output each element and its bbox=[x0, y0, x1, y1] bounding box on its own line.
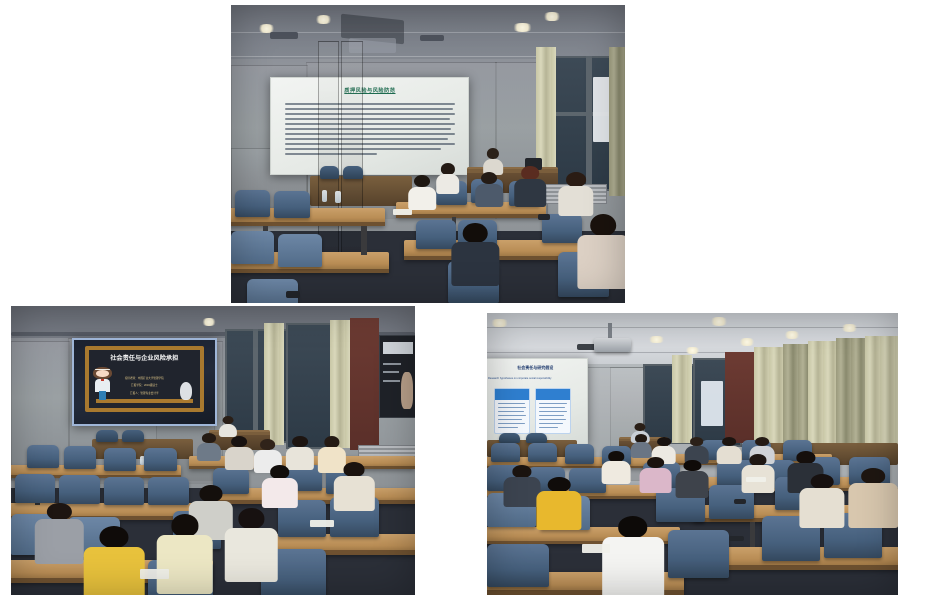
auditorium-seat bbox=[27, 445, 59, 468]
slide-title: 社会责任与研究假设 bbox=[487, 365, 587, 371]
student bbox=[717, 437, 742, 462]
notebook bbox=[746, 477, 767, 483]
water-bottle bbox=[322, 190, 328, 202]
ceiling-light-icon bbox=[738, 338, 756, 345]
student bbox=[558, 172, 593, 214]
cartoon-girl-graphic bbox=[93, 367, 111, 379]
student bbox=[408, 175, 436, 208]
front-chair bbox=[343, 166, 363, 179]
auditorium-seat bbox=[274, 191, 309, 218]
slide-box bbox=[494, 388, 530, 434]
student bbox=[225, 508, 278, 577]
wall-poster bbox=[379, 335, 415, 418]
slide-title: 社会责任与企业风险承担 bbox=[100, 355, 189, 363]
window-poster bbox=[701, 381, 724, 426]
auditorium-seat bbox=[59, 475, 99, 504]
slide-body bbox=[285, 103, 454, 158]
slide-subtitle: Research hypotheses on corporate social … bbox=[488, 377, 583, 380]
slide-title: 质押风险与风险防范 bbox=[283, 87, 456, 94]
student bbox=[849, 468, 898, 524]
front-chair bbox=[96, 430, 118, 442]
student bbox=[742, 454, 775, 491]
curtain bbox=[754, 347, 783, 449]
student bbox=[35, 503, 83, 561]
notebook bbox=[393, 209, 413, 215]
projection-screen: 质押风险与风险防范 bbox=[270, 77, 469, 176]
student bbox=[452, 223, 499, 283]
notebook bbox=[310, 520, 334, 527]
front-chair bbox=[499, 433, 520, 443]
photo-top: 质押风险与风险防范 bbox=[231, 5, 625, 303]
ceiling-light-icon bbox=[647, 336, 665, 343]
projector-icon bbox=[594, 338, 631, 352]
student bbox=[84, 526, 145, 595]
front-chair bbox=[526, 433, 547, 443]
auditorium-seat bbox=[491, 443, 520, 463]
curtain bbox=[330, 320, 352, 447]
cartoon-ghost-graphic bbox=[180, 382, 193, 400]
auditorium-seat bbox=[416, 220, 455, 250]
mobile-phone bbox=[734, 499, 746, 504]
curtain bbox=[264, 323, 284, 444]
student bbox=[286, 436, 314, 468]
student bbox=[436, 163, 460, 193]
auditorium-seat bbox=[565, 444, 594, 464]
curtain bbox=[865, 336, 898, 449]
student bbox=[536, 477, 581, 528]
curtain bbox=[836, 338, 865, 448]
projector-mount bbox=[608, 323, 612, 340]
notebook bbox=[140, 569, 168, 579]
student bbox=[578, 214, 625, 286]
curtain bbox=[808, 341, 837, 448]
student bbox=[602, 516, 664, 595]
front-chair bbox=[122, 430, 144, 442]
photo-bottom-right: 社会责任与研究假设 Research hypotheses on corpora… bbox=[487, 313, 898, 595]
student bbox=[261, 465, 297, 505]
auditorium-seat bbox=[668, 530, 730, 578]
mobile-phone bbox=[729, 536, 743, 542]
student bbox=[475, 172, 503, 205]
student bbox=[639, 457, 672, 491]
auditorium-seat bbox=[104, 448, 136, 471]
auditorium-seat bbox=[104, 477, 144, 506]
student bbox=[676, 460, 709, 497]
projection-screen: 社会责任与研究假设 Research hypotheses on corpora… bbox=[487, 358, 588, 445]
slide-box bbox=[535, 388, 571, 434]
slide-subtitle: 汇报人：管理专业会计学 bbox=[104, 391, 184, 395]
slide-subtitle: 指导老师：中国矿业大学管理学院 bbox=[104, 376, 184, 380]
front-chair bbox=[320, 166, 340, 179]
auditorium-seat bbox=[528, 443, 557, 463]
student bbox=[334, 462, 374, 508]
presenter bbox=[219, 416, 237, 436]
slide-subtitle: 汇报学院：2019级硕士 bbox=[104, 383, 184, 387]
projection-screen: 社会责任与企业风险承担 指导老师：中国矿业大学管理学院 汇报学院：2019级硕士… bbox=[72, 338, 217, 426]
water-bottle bbox=[335, 191, 341, 203]
ceiling-light-icon bbox=[783, 331, 801, 338]
curtain bbox=[672, 355, 693, 442]
ceiling-light-icon bbox=[709, 317, 730, 325]
student bbox=[799, 474, 844, 525]
student bbox=[602, 451, 631, 482]
ceiling-light-icon bbox=[201, 318, 217, 327]
mobile-phone bbox=[286, 291, 300, 298]
student bbox=[197, 433, 221, 459]
auditorium-seat bbox=[235, 190, 270, 217]
auditorium-seat bbox=[487, 544, 549, 586]
notebook bbox=[582, 544, 611, 552]
student bbox=[225, 436, 253, 468]
ceiling-light-icon bbox=[840, 324, 858, 331]
curtain bbox=[783, 344, 808, 448]
presenter bbox=[483, 148, 503, 175]
ceiling-light-icon bbox=[489, 319, 510, 327]
photo-bottom-left: 社会责任与企业风险承担 指导老师：中国矿业大学管理学院 汇报学院：2019级硕士… bbox=[11, 306, 415, 595]
accent-wall bbox=[350, 318, 378, 451]
auditorium-seat bbox=[144, 448, 176, 471]
curtain bbox=[609, 47, 625, 196]
auditorium-seat bbox=[231, 231, 274, 264]
auditorium-seat bbox=[148, 477, 188, 506]
auditorium-seat bbox=[64, 446, 96, 469]
mobile-phone bbox=[538, 214, 550, 220]
photo-collage: 质押风险与风险防范 bbox=[0, 0, 937, 595]
student bbox=[631, 434, 652, 457]
auditorium-seat bbox=[15, 474, 55, 503]
student bbox=[515, 166, 547, 205]
ceiling-light-icon bbox=[684, 347, 700, 354]
student bbox=[503, 465, 540, 504]
auditorium-seat bbox=[278, 234, 321, 267]
